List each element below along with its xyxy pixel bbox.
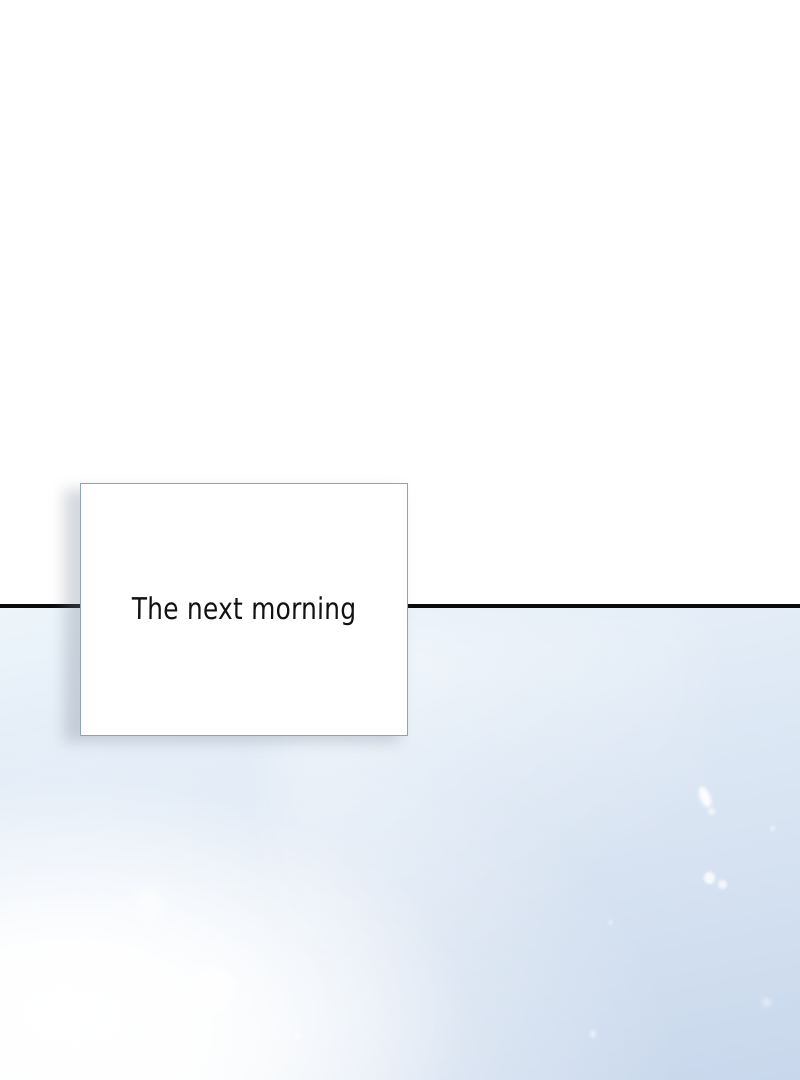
caption-box: The next morning xyxy=(80,483,408,736)
comic-page: The next morning xyxy=(0,0,800,1080)
caption-text: The next morning xyxy=(132,595,357,625)
